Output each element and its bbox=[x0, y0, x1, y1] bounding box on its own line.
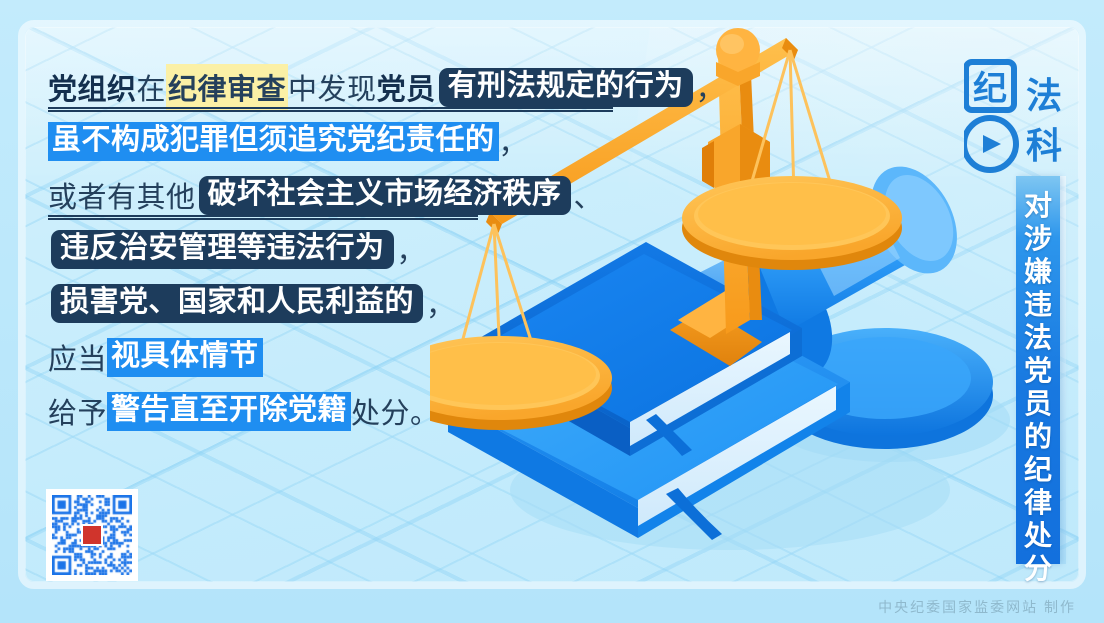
text-segment: 或者有其他 bbox=[48, 174, 196, 216]
text-badge: 有刑法规定的行为 bbox=[439, 68, 693, 107]
text-line: 党组织 在 纪律审查 中发现 党员 有刑法规定的行为 ， bbox=[48, 60, 668, 114]
banner-char: 违 bbox=[1024, 289, 1052, 322]
banner-char: 法 bbox=[1024, 322, 1052, 355]
line-rule bbox=[48, 215, 478, 220]
vertical-title-banner: 对涉嫌违法党员的纪律处分 bbox=[1016, 176, 1060, 564]
banner-char: 的 bbox=[1024, 421, 1052, 454]
banner-shadow-strip bbox=[1060, 176, 1066, 564]
banner-char: 纪 bbox=[1024, 454, 1052, 487]
text-badge: 违反治安管理等违法行为 bbox=[51, 230, 394, 269]
play-icon bbox=[983, 135, 1001, 153]
banner-char: 律 bbox=[1024, 487, 1052, 520]
banner-char: 分 bbox=[1024, 553, 1052, 586]
text-line: 虽不构成犯罪但须追究党纪责任的 ， bbox=[48, 114, 668, 168]
text-highlight-blue: 虽不构成犯罪但须追究党纪责任的 bbox=[48, 122, 499, 161]
line-rule bbox=[48, 107, 613, 112]
logo-char-1: 纪 bbox=[973, 70, 1007, 108]
banner-char: 涉 bbox=[1024, 223, 1052, 256]
text-segment: 在 bbox=[137, 66, 167, 108]
body-text-block: 党组织 在 纪律审查 中发现 党员 有刑法规定的行为 ， 虽不构成犯罪但须追究党… bbox=[48, 60, 668, 438]
text-punctuation: 、 bbox=[574, 174, 604, 216]
text-line: 给予 警告直至开除党籍 处分。 bbox=[48, 384, 668, 438]
scale-pan-right bbox=[682, 176, 902, 270]
banner-char: 处 bbox=[1024, 520, 1052, 553]
text-segment: 中发现 bbox=[288, 66, 377, 108]
text-punctuation: ， bbox=[696, 66, 726, 108]
text-highlight-blue: 视具体情节 bbox=[107, 338, 263, 377]
text-segment: 应当 bbox=[48, 336, 107, 378]
text-punctuation: ， bbox=[397, 228, 427, 270]
text-line: 应当 视具体情节 bbox=[48, 330, 668, 384]
text-segment: 处分。 bbox=[351, 390, 440, 432]
program-logo: 纪 法 科 bbox=[964, 56, 1076, 174]
banner-char: 对 bbox=[1024, 190, 1052, 223]
text-line: 损害党、国家和人民利益的 ， bbox=[48, 276, 668, 330]
qr-seal bbox=[81, 524, 103, 546]
text-segment: 给予 bbox=[48, 390, 107, 432]
text-segment: 党员 bbox=[377, 66, 436, 108]
text-badge: 破坏社会主义市场经济秩序 bbox=[199, 176, 571, 215]
banner-char: 员 bbox=[1024, 388, 1052, 421]
logo-char-4: 科 bbox=[1026, 126, 1062, 166]
text-highlight-yellow: 纪律审查 bbox=[166, 64, 288, 111]
logo-char-3: 法 bbox=[1026, 76, 1062, 116]
qr-code[interactable] bbox=[46, 489, 138, 581]
text-badge: 损害党、国家和人民利益的 bbox=[51, 284, 423, 323]
seal-mark-icon bbox=[83, 526, 101, 544]
text-punctuation: ， bbox=[426, 282, 456, 324]
text-punctuation: ， bbox=[499, 120, 529, 162]
credit-line: 中央纪委国家监委网站 制作 bbox=[878, 597, 1076, 617]
text-line: 或者有其他 破坏社会主义市场经济秩序 、 bbox=[48, 168, 668, 222]
text-segment: 党组织 bbox=[48, 66, 137, 108]
banner-char: 嫌 bbox=[1024, 256, 1052, 289]
text-highlight-blue: 警告直至开除党籍 bbox=[107, 392, 351, 431]
text-line: 违反治安管理等违法行为 ， bbox=[48, 222, 668, 276]
poster-canvas: 党组织 在 纪律审查 中发现 党员 有刑法规定的行为 ， 虽不构成犯罪但须追究党… bbox=[0, 0, 1104, 623]
banner-char: 党 bbox=[1024, 355, 1052, 388]
